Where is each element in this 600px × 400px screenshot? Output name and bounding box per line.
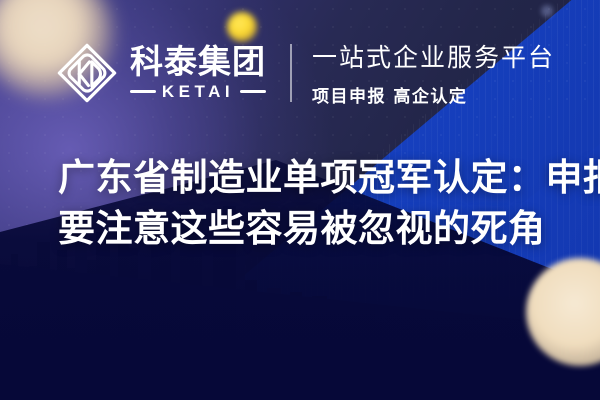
brand-name-cn: 科泰集团	[130, 45, 266, 78]
tagline-primary: 一站式企业服务平台	[312, 38, 555, 74]
brand-wordmark: 科泰集团 KETAI	[130, 45, 266, 100]
wordmark-rule-right	[240, 90, 266, 93]
banner-header: 科泰集团 KETAI 一站式企业服务平台 项目申报 高企认定	[56, 38, 555, 107]
tagline-block: 一站式企业服务平台 项目申报 高企认定	[312, 38, 555, 107]
promo-banner: 科泰集团 KETAI 一站式企业服务平台 项目申报 高企认定 广东省制造业单项冠…	[0, 0, 600, 400]
ketai-diamond-k-logo-icon	[56, 42, 118, 104]
small-bokeh-dot-icon	[540, 4, 554, 18]
brand-name-en: KETAI	[162, 83, 234, 100]
vertical-divider	[290, 44, 292, 102]
headline: 广东省制造业单项冠军认定：申报 要注意这些容易被忽视的死角	[58, 152, 558, 254]
headline-line-1: 广东省制造业单项冠军认定：申报	[58, 152, 558, 203]
brand-logo-lockup[interactable]: 科泰集团 KETAI	[56, 42, 266, 104]
tagline-secondary: 项目申报 高企认定	[312, 82, 555, 107]
wordmark-rule-left	[130, 90, 156, 93]
brand-name-en-row: KETAI	[130, 83, 266, 100]
headline-line-2: 要注意这些容易被忽视的死角	[58, 203, 558, 254]
